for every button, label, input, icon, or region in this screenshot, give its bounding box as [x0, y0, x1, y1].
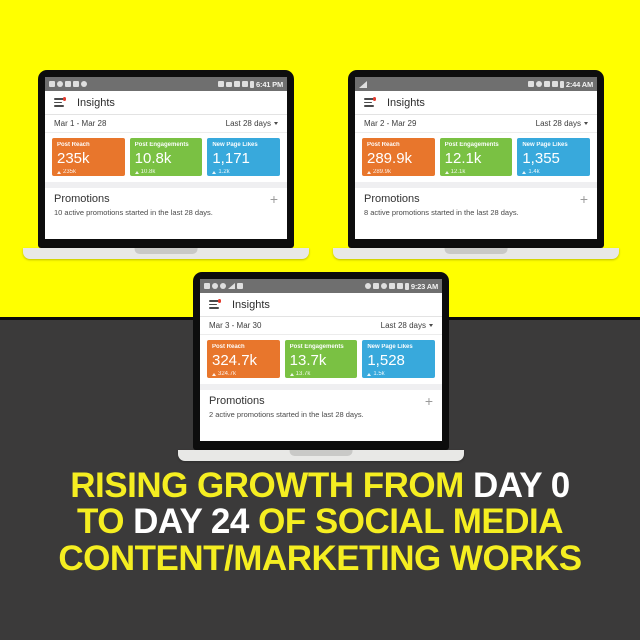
date-period-selector[interactable]: Last 28 days	[381, 321, 433, 330]
arrow-up-icon	[212, 171, 216, 174]
date-period-selector[interactable]: Last 28 days	[226, 119, 278, 128]
metric-delta-value: 1.2k	[218, 169, 229, 175]
hamburger-menu-icon[interactable]	[54, 98, 65, 107]
metric-cards: Post Reach 289.9k 289.9k Post Engagement…	[355, 133, 597, 182]
metric-label: Post Engagements	[135, 142, 198, 148]
metric-card-post-engagements[interactable]: Post Engagements 12.1k 12.1k	[440, 138, 513, 176]
date-range-label: Mar 2 - Mar 29	[364, 119, 416, 128]
signal-bars-icon	[397, 283, 403, 289]
metric-card-post-reach[interactable]: Post Reach 235k 235k	[52, 138, 125, 176]
date-range-label: Mar 3 - Mar 30	[209, 321, 261, 330]
metric-value: 1,171	[212, 151, 275, 166]
app-header: Insights	[355, 91, 597, 115]
notification-dot-icon	[63, 97, 66, 100]
date-row: Mar 3 - Mar 30 Last 28 days	[200, 317, 442, 335]
chevron-down-icon	[429, 324, 433, 327]
laptop-screen: 2:44 AM Insights Mar 2 - Mar 29 Last 28 …	[355, 77, 597, 239]
add-promotion-button[interactable]: +	[580, 192, 588, 206]
promotions-title: Promotions	[364, 193, 420, 205]
chevron-down-icon	[584, 122, 588, 125]
date-period-label: Last 28 days	[381, 321, 426, 330]
metric-delta: 1.2k	[212, 169, 275, 175]
date-period-selector[interactable]: Last 28 days	[536, 119, 588, 128]
metric-delta: 1.5k	[367, 371, 430, 377]
laptop-screen: 9:23 AM Insights Mar 3 - Mar 30 Last 28 …	[200, 279, 442, 441]
metric-label: Post Reach	[57, 142, 120, 148]
camera-icon	[212, 283, 218, 289]
metric-card-new-page-likes[interactable]: New Page Likes 1,171 1.2k	[207, 138, 280, 176]
signal-triangle-icon	[228, 283, 235, 289]
metric-label: Post Reach	[367, 142, 430, 148]
headline-text-2a: TO	[77, 502, 133, 541]
hamburger-menu-icon[interactable]	[209, 300, 220, 309]
promotions-header: Promotions +	[355, 188, 597, 208]
laptop-mockup-3: 9:23 AM Insights Mar 3 - Mar 30 Last 28 …	[193, 272, 449, 461]
headline-highlight-day-24: DAY 24	[133, 502, 249, 541]
date-row: Mar 1 - Mar 28 Last 28 days	[45, 115, 287, 133]
metric-delta: 324.7k	[212, 371, 275, 377]
laptop-base	[178, 450, 464, 461]
status-bar-clock: 2:44 AM	[566, 80, 593, 89]
date-row: Mar 2 - Mar 29 Last 28 days	[355, 115, 597, 133]
alarm-icon	[528, 81, 534, 87]
laptop-lid: 2:44 AM Insights Mar 2 - Mar 29 Last 28 …	[348, 70, 604, 248]
app-header: Insights	[200, 293, 442, 317]
metric-delta: 289.9k	[367, 169, 430, 175]
promotions-header: Promotions +	[200, 390, 442, 410]
app-title: Insights	[387, 97, 425, 109]
arrow-up-icon	[367, 373, 371, 376]
headline-line-3: CONTENT/MARKETING WORKS	[0, 541, 640, 577]
messenger-icon	[57, 81, 63, 87]
metric-delta: 12.1k	[445, 169, 508, 175]
app-icon	[237, 283, 243, 289]
arrow-up-icon	[445, 171, 449, 174]
whatsapp-icon	[220, 283, 226, 289]
metric-value: 1,355	[522, 151, 585, 166]
laptop-base	[333, 248, 619, 259]
headline-highlight-day-0: DAY 0	[473, 466, 570, 505]
metric-label: New Page Likes	[367, 344, 430, 350]
metric-delta: 13.7k	[290, 371, 353, 377]
metric-label: Post Engagements	[290, 344, 353, 350]
arrow-up-icon	[290, 373, 294, 376]
headline-text-2c: OF SOCIAL MEDIA	[249, 502, 563, 541]
arrow-up-icon	[135, 171, 139, 174]
promotions-title: Promotions	[54, 193, 110, 205]
battery-icon	[250, 81, 254, 88]
date-period-label: Last 28 days	[536, 119, 581, 128]
sms-icon	[73, 81, 79, 87]
info-icon	[365, 283, 371, 289]
status-bar: 6:41 PM	[45, 77, 287, 91]
metric-value: 12.1k	[445, 151, 508, 166]
metric-value: 235k	[57, 151, 120, 166]
promotions-subtitle: 10 active promotions started in the last…	[45, 208, 287, 217]
metric-cards: Post Reach 324.7k 324.7k Post Engagement…	[200, 335, 442, 384]
metric-card-new-page-likes[interactable]: New Page Likes 1,528 1.5k	[362, 340, 435, 378]
alarm-icon	[373, 283, 379, 289]
metric-value: 324.7k	[212, 353, 275, 368]
metric-delta: 1.4k	[522, 169, 585, 175]
headline-line-1: RISING GROWTH FROM DAY 0	[0, 468, 640, 504]
headline: RISING GROWTH FROM DAY 0 TO DAY 24 OF SO…	[0, 468, 640, 577]
add-promotion-button[interactable]: +	[270, 192, 278, 206]
laptop-base	[23, 248, 309, 259]
metric-delta-value: 324.7k	[218, 371, 236, 377]
status-bar: 9:23 AM	[200, 279, 442, 293]
signal-4g-icon	[544, 81, 550, 87]
laptop-lid: 6:41 PM Insights Mar 1 - Mar 28 Last 28 …	[38, 70, 294, 248]
status-bar: 2:44 AM	[355, 77, 597, 91]
headline-text-1a: RISING GROWTH FROM	[70, 466, 473, 505]
metric-delta: 10.8k	[135, 169, 198, 175]
camera-icon	[65, 81, 71, 87]
metric-delta-value: 12.1k	[451, 169, 466, 175]
laptop-lid: 9:23 AM Insights Mar 3 - Mar 30 Last 28 …	[193, 272, 449, 450]
arrow-up-icon	[212, 373, 216, 376]
status-bar-right-icons: 9:23 AM	[365, 282, 438, 291]
metric-label: New Page Likes	[212, 142, 275, 148]
metric-value: 13.7k	[290, 353, 353, 368]
metric-label: Post Engagements	[445, 142, 508, 148]
metric-value: 10.8k	[135, 151, 198, 166]
promotions-subtitle: 2 active promotions started in the last …	[200, 410, 442, 419]
signal-4g-icon	[389, 283, 395, 289]
metric-delta-value: 13.7k	[296, 371, 311, 377]
metric-delta: 235k	[57, 169, 120, 175]
arrow-up-icon	[522, 171, 526, 174]
arrow-up-icon	[367, 171, 371, 174]
metric-card-post-engagements[interactable]: Post Engagements 13.7k 13.7k	[285, 340, 358, 378]
status-bar-left-icons	[359, 81, 367, 88]
metric-delta-value: 235k	[63, 169, 76, 175]
metric-card-new-page-likes[interactable]: New Page Likes 1,355 1.4k	[517, 138, 590, 176]
alarm-icon	[218, 81, 224, 87]
status-bar-clock: 6:41 PM	[256, 80, 283, 89]
laptop-mockup-1: 6:41 PM Insights Mar 1 - Mar 28 Last 28 …	[38, 70, 294, 259]
signal-triangle-icon	[359, 81, 367, 88]
arrow-up-icon	[57, 171, 61, 174]
promotions-subtitle: 8 active promotions started in the last …	[355, 208, 597, 217]
app-header: Insights	[45, 91, 287, 115]
metric-card-post-reach[interactable]: Post Reach 289.9k 289.9k	[362, 138, 435, 176]
sms-icon	[204, 283, 210, 289]
notification-dot-icon	[373, 97, 376, 100]
facebook-icon	[49, 81, 55, 87]
metric-cards: Post Reach 235k 235k Post Engagements 10…	[45, 133, 287, 182]
status-bar-right-icons: 6:41 PM	[218, 80, 283, 89]
laptop-mockup-2: 2:44 AM Insights Mar 2 - Mar 29 Last 28 …	[348, 70, 604, 259]
app-title: Insights	[232, 299, 270, 311]
metric-delta-value: 289.9k	[373, 169, 391, 175]
wifi-icon	[381, 283, 387, 289]
metric-label: Post Reach	[212, 344, 275, 350]
laptop-screen: 6:41 PM Insights Mar 1 - Mar 28 Last 28 …	[45, 77, 287, 239]
app-title: Insights	[77, 97, 115, 109]
metric-card-post-reach[interactable]: Post Reach 324.7k 324.7k	[207, 340, 280, 378]
metric-delta-value: 10.8k	[141, 169, 156, 175]
metric-value: 289.9k	[367, 151, 430, 166]
date-range-label: Mar 1 - Mar 28	[54, 119, 106, 128]
metric-label: New Page Likes	[522, 142, 585, 148]
signal-bars-2-icon	[242, 81, 248, 87]
whatsapp-icon	[81, 81, 87, 87]
battery-icon	[560, 81, 564, 88]
date-period-label: Last 28 days	[226, 119, 271, 128]
signal-bars-icon	[234, 81, 240, 87]
promotions-header: Promotions +	[45, 188, 287, 208]
battery-icon	[405, 283, 409, 290]
add-promotion-button[interactable]: +	[425, 394, 433, 408]
status-bar-right-icons: 2:44 AM	[528, 80, 593, 89]
metric-delta-value: 1.5k	[373, 371, 384, 377]
status-bar-left-icons	[49, 81, 87, 87]
status-bar-clock: 9:23 AM	[411, 282, 438, 291]
headline-line-2: TO DAY 24 OF SOCIAL MEDIA	[0, 504, 640, 540]
signal-bars-icon	[552, 81, 558, 87]
hamburger-menu-icon[interactable]	[364, 98, 375, 107]
signal-4g-icon	[226, 82, 232, 87]
chevron-down-icon	[274, 122, 278, 125]
metric-value: 1,528	[367, 353, 430, 368]
promotions-title: Promotions	[209, 395, 265, 407]
notification-dot-icon	[218, 299, 221, 302]
metric-delta-value: 1.4k	[528, 169, 539, 175]
metric-card-post-engagements[interactable]: Post Engagements 10.8k 10.8k	[130, 138, 203, 176]
wifi-icon	[536, 81, 542, 87]
status-bar-left-icons	[204, 283, 243, 289]
